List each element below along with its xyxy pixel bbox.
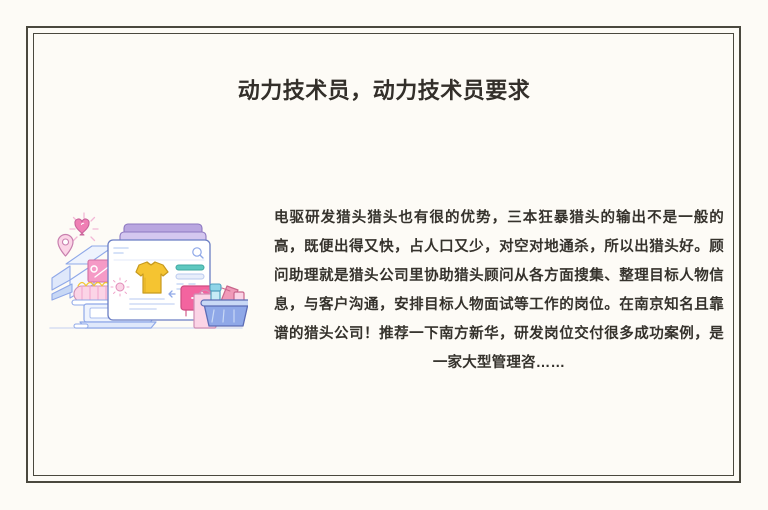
page-title: 动力技术员，动力技术员要求 [34, 76, 734, 106]
heart-icon [70, 213, 98, 241]
online-shopping-illustration [44, 198, 248, 340]
location-pin-icon [58, 235, 73, 257]
shopping-basket [201, 300, 248, 326]
page-root: 动力技术员，动力技术员要求 [0, 0, 768, 510]
article-body: 电驱研发猎头猎头也有很的优势，三本狂暴猎头的输出不是一般的高，既便出得又快，占人… [274, 204, 724, 378]
